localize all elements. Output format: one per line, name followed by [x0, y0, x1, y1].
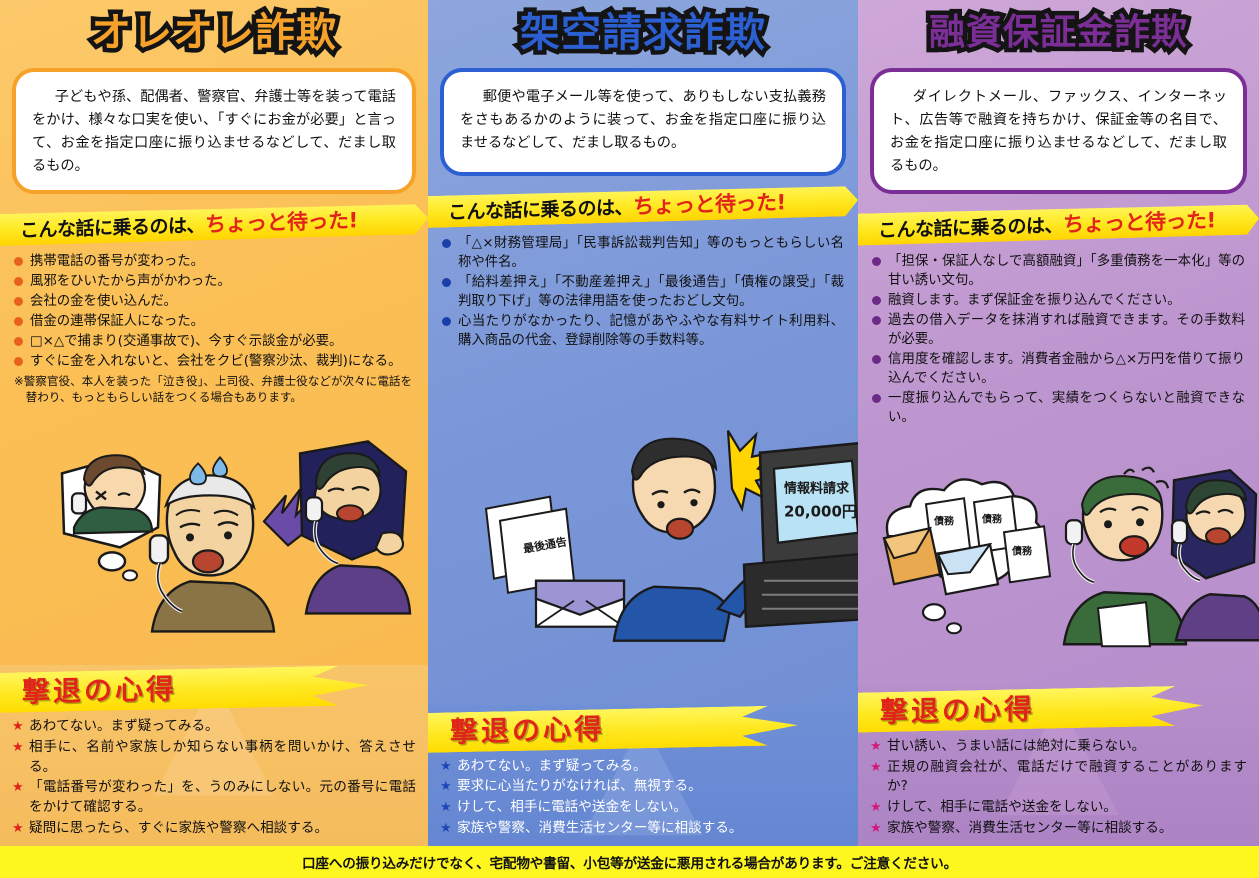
list-item: けして、相手に電話や送金をしない。 [440, 798, 846, 818]
panel-3-ribbon-black: こんな話に乗るのは、 [878, 215, 1063, 242]
fraud-awareness-poster: オレオレ詐欺 子どもや孫、配偶者、警察官、弁護士等を装って電話をかけ、様々な口実… [0, 0, 1259, 878]
panel-1-warning-ribbon: こんな話に乗るのは、ちょっと待った! [0, 202, 428, 246]
screen-label-2: 20,000円 [784, 503, 857, 521]
list-item: 疑問に思ったら、すぐに家族や警察へ相談する。 [12, 819, 416, 839]
panel-2-ribbon-black: こんな話に乗るのは、 [448, 197, 633, 224]
panel-3-title-wrap: 融資保証金詐欺 [858, 4, 1259, 62]
list-item: 正規の融資会社が、電話だけで融資することがありますか? [870, 758, 1247, 798]
caller-scam-illustration [0, 406, 428, 665]
debt-paper-label-2: 債務 [981, 513, 1003, 526]
panel-1-ribbon-black: こんな話に乗るのは、 [20, 215, 205, 242]
list-item: 会社の金を使い込んだ。 [14, 292, 414, 311]
panel-3-kokoroe-ribbon: 撃退の心得 [858, 685, 1259, 733]
panel-1-description: 子どもや孫、配偶者、警察官、弁護士等を装って電話をかけ、様々な口実を使い、「すぐ… [32, 86, 396, 178]
panel-2-kokoroe-section: 撃退の心得 あわてない。まず疑ってみる。 要求に心当たりがなければ、無視する。 … [428, 705, 858, 846]
list-item: すぐに金を入れないと、会社をクビ(警察沙汰、裁判)になる。 [14, 352, 414, 371]
panel-2-ribbon-text: こんな話に乗るのは、ちょっと待った! [448, 186, 786, 225]
panel-1-kokoroe-list: あわてない。まず疑ってみる。 相手に、名前や家族しか知らない事柄を問いかけ、答え… [12, 717, 416, 839]
panel-1-kokoroe-ribbon: 撃退の心得 [0, 665, 428, 713]
panel-2-kokoroe-title: 撃退の心得 [450, 707, 605, 750]
panel-1-illustration [0, 406, 428, 665]
panel-2-title: 架空請求詐欺 [520, 13, 766, 53]
loan-guarantee-illustration: 債務 債務 債務 [858, 428, 1259, 685]
list-item: けして、相手に電話や送金をしない。 [870, 798, 1247, 818]
list-item: 「給料差押え」「不動産差押え」「最後通告」「債権の譲受」「裁判取り下げ」等の法律… [442, 273, 844, 311]
list-item: あわてない。まず疑ってみる。 [440, 757, 846, 777]
list-item: あわてない。まず疑ってみる。 [12, 717, 416, 737]
panel-2-bullet-list: 「△×財務管理局」「民事訴訟裁判告知」等のもっともらしい名称や件名。 「給料差押… [442, 234, 844, 351]
list-item: 「△×財務管理局」「民事訴訟裁判告知」等のもっともらしい名称や件名。 [442, 234, 844, 272]
panel-3-bullet-list: 「担保・保証人なしで高額融資」「多重債務を一本化」等の甘い誘い文句。 融資します… [872, 252, 1245, 428]
list-item: 要求に心当たりがなければ、無視する。 [440, 777, 846, 797]
panel-ore-ore-sagi: オレオレ詐欺 子どもや孫、配偶者、警察官、弁護士等を装って電話をかけ、様々な口実… [0, 0, 428, 846]
panel-1-title-wrap: オレオレ詐欺 [0, 4, 428, 62]
panel-3-kokoroe-title: 撃退の心得 [880, 687, 1035, 730]
panel-1-kokoroe-section: 撃退の心得 あわてない。まず疑ってみる。 相手に、名前や家族しか知らない事柄を問… [0, 665, 428, 846]
panel-1-note: ※警察官役、本人を装った「泣き役」、上司役、弁護士役などが次々に電話を替わり、も… [14, 374, 414, 406]
list-item: 融資します。まず保証金を振り込んでください。 [872, 291, 1245, 310]
panel-3-kokoroe-list: 甘い誘い、うまい話には絶対に乗らない。 正規の融資会社が、電話だけで融資すること… [870, 737, 1247, 839]
list-item: 過去の借入データを抹消すれば融資できます。その手数料が必要。 [872, 311, 1245, 349]
list-item: 甘い誘い、うまい話には絶対に乗らない。 [870, 737, 1247, 757]
panel-kakuu-seikyuu-sagi: 架空請求詐欺 郵便や電子メール等を使って、ありもしない支払義務をさもあるかのよう… [428, 0, 858, 846]
list-item: 借金の連帯保証人になった。 [14, 312, 414, 331]
panel-3-description: ダイレクトメール、ファックス、インターネット、広告等で融資を持ちかけ、保証金等の… [890, 86, 1227, 178]
list-item: 「担保・保証人なしで高額融資」「多重債務を一本化」等の甘い誘い文句。 [872, 252, 1245, 290]
panel-1-bullet-list: 携帯電話の番号が変わった。 風邪をひいたから声がかわった。 会社の金を使い込んだ… [14, 252, 414, 372]
panel-2-title-wrap: 架空請求詐欺 [428, 4, 858, 62]
panel-3-ribbon-red: ちょっと待った! [1063, 208, 1216, 236]
panel-2-kokoroe-ribbon: 撃退の心得 [428, 705, 858, 753]
panel-3-warning-ribbon: こんな話に乗るのは、ちょっと待った! [858, 202, 1259, 246]
list-item: 「電話番号が変わった」を、うのみにしない。元の番号に電話をかけて確認する。 [12, 778, 416, 818]
list-item: 心当たりがなかったり、記憶があやふやな有料サイト利用料、購入商品の代金、登録削除… [442, 312, 844, 350]
panel-2-description-box: 郵便や電子メール等を使って、ありもしない支払義務をさもあるかのように装って、お金… [440, 68, 846, 176]
list-item: 家族や警察、消費生活センター等に相談する。 [440, 819, 846, 839]
panel-3-title: 融資保証金詐欺 [929, 15, 1188, 51]
list-item: 家族や警察、消費生活センター等に相談する。 [870, 819, 1247, 839]
list-item: 信用度を確認します。消費者金融から△×万円を借りて振り込んでください。 [872, 350, 1245, 388]
panel-3-illustration: 債務 債務 債務 [858, 428, 1259, 685]
list-item: □×△で捕まり(交通事故で)、今すぐ示談金が必要。 [14, 332, 414, 351]
panel-1-kokoroe-title: 撃退の心得 [22, 667, 177, 710]
panel-2-description: 郵便や電子メール等を使って、ありもしない支払義務をさもあるかのように装って、お金… [460, 86, 826, 155]
footer-text: 口座への振り込みだけでなく、宅配物や書留、小包等が送金に悪用される場合があります… [302, 852, 957, 872]
panel-container: オレオレ詐欺 子どもや孫、配偶者、警察官、弁護士等を装って電話をかけ、様々な口実… [0, 0, 1259, 846]
debt-paper-label-1: 債務 [933, 515, 955, 528]
list-item: 相手に、名前や家族しか知らない事柄を問いかけ、答えさせる。 [12, 738, 416, 778]
panel-3-ribbon-text: こんな話に乗るのは、ちょっと待った! [878, 204, 1216, 243]
panel-2-ribbon-red: ちょっと待った! [633, 190, 786, 218]
list-item: 風邪をひいたから声がかわった。 [14, 272, 414, 291]
list-item: 携帯電話の番号が変わった。 [14, 252, 414, 271]
panel-3-description-box: ダイレクトメール、ファックス、インターネット、広告等で融資を持ちかけ、保証金等の… [870, 68, 1247, 194]
panel-2-kokoroe-list: あわてない。まず疑ってみる。 要求に心当たりがなければ、無視する。 けして、相手… [440, 757, 846, 839]
panel-3-kokoroe-section: 撃退の心得 甘い誘い、うまい話には絶対に乗らない。 正規の融資会社が、電話だけで… [858, 685, 1259, 846]
fake-billing-illustration: 最後通告 [428, 351, 858, 704]
panel-2-illustration: 最後通告 [428, 351, 858, 704]
footer-warning-bar: 口座への振り込みだけでなく、宅配物や書留、小包等が送金に悪用される場合があります… [0, 846, 1259, 878]
panel-yuushi-hoshoukin-sagi: 融資保証金詐欺 ダイレクトメール、ファックス、インターネット、広告等で融資を持ち… [858, 0, 1259, 846]
panel-1-description-box: 子どもや孫、配偶者、警察官、弁護士等を装って電話をかけ、様々な口実を使い、「すぐ… [12, 68, 416, 194]
panel-1-ribbon-text: こんな話に乗るのは、ちょっと待った! [20, 204, 358, 243]
debt-paper-label-3: 債務 [1011, 545, 1033, 558]
panel-2-warning-ribbon: こんな話に乗るのは、ちょっと待った! [428, 184, 858, 228]
panel-1-title: オレオレ詐欺 [91, 13, 337, 53]
panel-1-ribbon-red: ちょっと待った! [205, 208, 358, 236]
screen-label-1: 情報料請求 [784, 481, 850, 497]
list-item: 一度振り込んでもらって、実績をつくらないと融資できない。 [872, 389, 1245, 427]
